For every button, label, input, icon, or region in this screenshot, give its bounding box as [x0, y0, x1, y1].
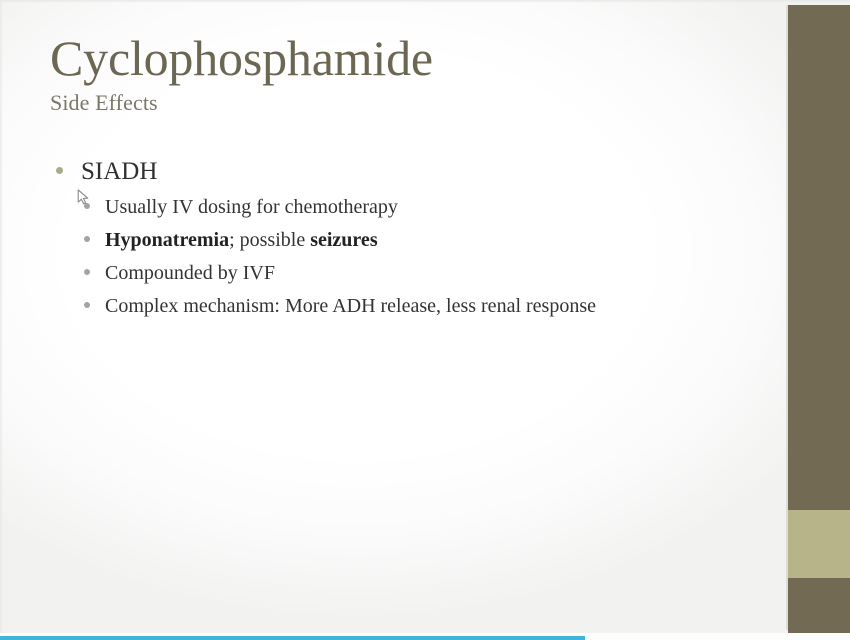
canvas-left-edge: [0, 0, 3, 633]
bullet-text: Complex mechanism: More ADH release, les…: [105, 293, 596, 319]
bullet-text-bold-part: seizures: [310, 229, 377, 251]
bullet-dot-icon: [84, 269, 90, 275]
page-title: Cyclophosphamide: [50, 32, 740, 84]
bullet-text: Compounded by IVF: [105, 260, 275, 286]
list-item: Usually IV dosing for chemotherapy: [84, 194, 756, 220]
slide-body-content: SIADH Usually IV dosing for chemotherapy…: [56, 156, 756, 326]
side-band-upper-segment: [788, 5, 850, 510]
list-item: Compounded by IVF: [84, 260, 756, 286]
list-item: Hyponatremia; possible seizures: [84, 227, 756, 253]
bullet-dot-icon: [84, 203, 90, 209]
side-band-lower-segment: [788, 578, 850, 635]
bullet-dot-icon: [84, 236, 90, 242]
bullet-text: Usually IV dosing for chemotherapy: [105, 194, 398, 220]
page-subtitle: Side Effects: [50, 90, 740, 116]
bullet-text: SIADH: [81, 156, 157, 188]
bullet-text-bold-part: Hyponatremia: [105, 229, 229, 251]
presentation-slide-viewer: Cyclophosphamide Side Effects SIADH Usua…: [0, 0, 850, 640]
list-item: Complex mechanism: More ADH release, les…: [84, 293, 756, 319]
sub-bullet-group: Usually IV dosing for chemotherapy Hypon…: [84, 194, 756, 319]
bullet-dot-icon: [84, 302, 90, 308]
video-progress-track[interactable]: [0, 633, 850, 640]
bullet-dot-icon: [56, 167, 63, 174]
canvas-top-edge: [0, 0, 850, 3]
video-progress-fill[interactable]: [0, 636, 585, 640]
list-item: SIADH: [56, 156, 756, 188]
slide-side-decoration-band: [788, 5, 850, 630]
bullet-text: Hyponatremia; possible seizures: [105, 227, 378, 253]
slide-title-block: Cyclophosphamide Side Effects: [50, 32, 740, 116]
side-band-accent-segment: [788, 510, 850, 578]
bullet-text-plain-part: ; possible: [229, 229, 310, 251]
